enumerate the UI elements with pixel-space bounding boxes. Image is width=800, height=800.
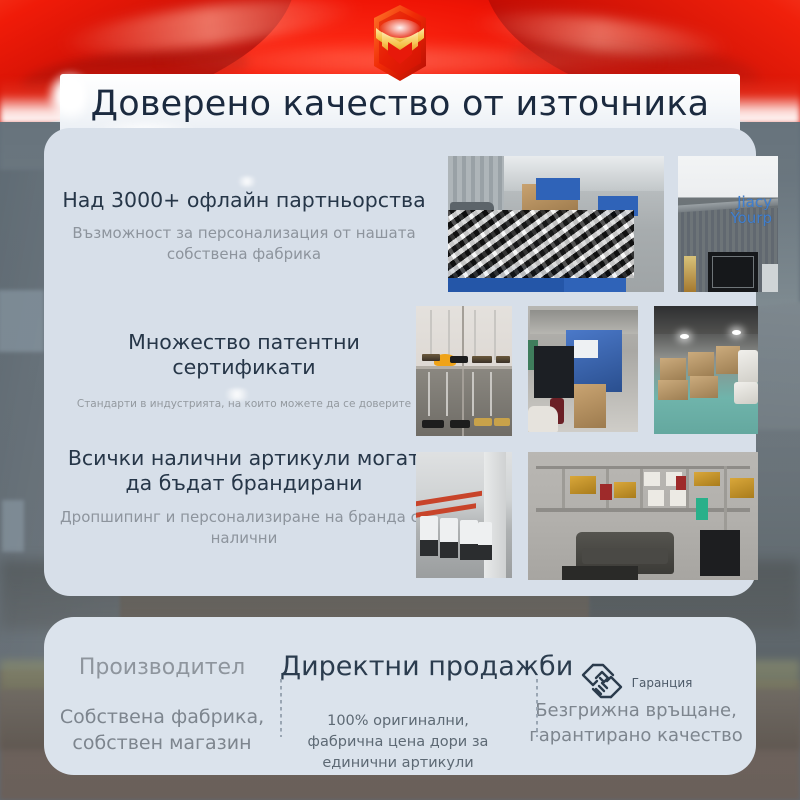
warehouse-cartons-photo <box>654 306 758 434</box>
photo-overlay-text-line2: Yourp <box>678 210 772 226</box>
feature-title: Всички налични артикули могат да бъдат б… <box>58 446 430 497</box>
main-content-card: Над 3000+ офлайн партньорства Възможност… <box>44 128 756 596</box>
feature-subtitle: Стандарти в индустрията, на които можете… <box>58 397 430 412</box>
medal-badge-icon <box>366 2 434 84</box>
feature-block-patents: Множество патентни сертификати Стандарти… <box>58 330 430 412</box>
production-hall-photo <box>416 452 512 578</box>
benefit-heading: Производител <box>44 655 280 680</box>
shelves-with-brooms-photo <box>416 306 512 436</box>
feature-block-partnerships: Над 3000+ офлайн партньорства Възможност… <box>58 188 430 265</box>
feature-subtitle: Дропшипинг и персонализиране на бранда с… <box>58 507 430 548</box>
feature-subtitle: Възможност за персонализация от нашата с… <box>58 223 430 264</box>
page-title: Доверено качество от източника <box>60 80 740 128</box>
benefit-body: Безгрижна връщане, гарантирано качество <box>524 699 748 749</box>
factory-building-signage-photo: Jiacy Yourp <box>678 156 778 292</box>
injection-molding-machine-photo <box>528 306 638 432</box>
benefit-heading-label: Гаранция <box>632 676 693 690</box>
benefit-column-manufacturer: Производител Собствена фабрика, собствен… <box>44 617 280 775</box>
column-divider <box>280 679 282 737</box>
sparkle-decoration <box>234 176 260 187</box>
feature-title: Над 3000+ офлайн партньорства <box>58 188 430 213</box>
photo-grid: Jiacy Yourp <box>402 142 746 582</box>
benefit-column-direct-sales: Директни продажби 100% оригинални, фабри… <box>280 617 516 775</box>
column-divider <box>536 679 538 737</box>
benefit-heading: Директни продажби <box>280 651 516 682</box>
benefit-body: Собствена фабрика, собствен магазин <box>52 705 272 757</box>
office-awards-shelf-photo <box>528 452 758 580</box>
bottom-benefits-card: Производител Собствена фабрика, собствен… <box>44 617 756 775</box>
photo-overlay-text-line1: Jiacy <box>678 194 772 210</box>
benefit-body: 100% оригинални, фабрична цена дори за е… <box>288 711 508 774</box>
feature-block-branding: Всички налични артикули могат да бъдат б… <box>58 446 430 548</box>
warehouse-metal-parts-photo <box>448 156 664 292</box>
benefit-column-warranty: Гаранция Безгрижна връщане, гарантирано … <box>516 617 756 775</box>
feature-title: Множество патентни сертификати <box>58 330 430 381</box>
